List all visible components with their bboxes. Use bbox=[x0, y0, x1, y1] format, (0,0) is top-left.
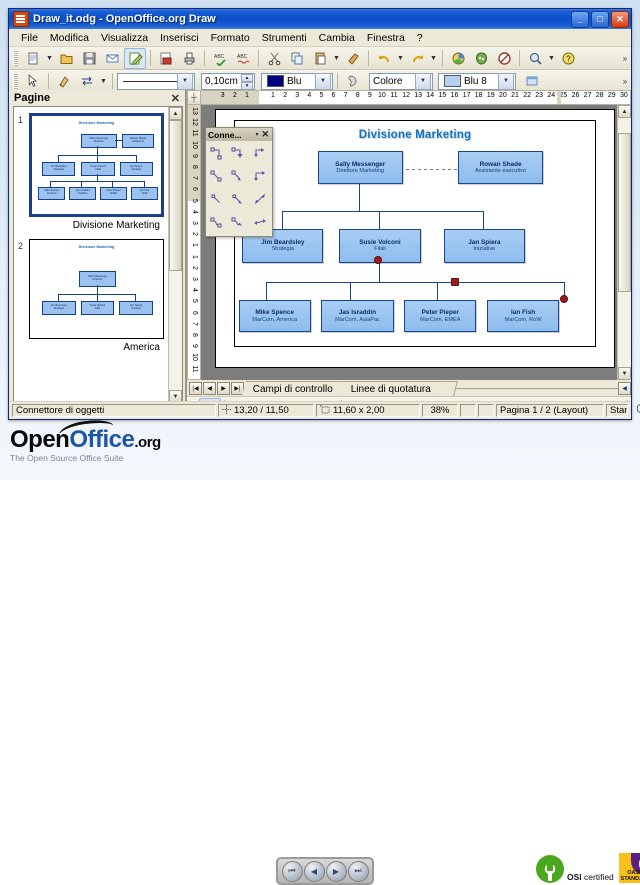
menu-item-modifica[interactable]: Modifica bbox=[44, 31, 95, 45]
menu-item-cambia[interactable]: Cambia bbox=[313, 31, 361, 45]
oasis-line2: STANDARD bbox=[619, 877, 640, 883]
cut-icon[interactable] bbox=[263, 48, 285, 69]
connector-handle-start[interactable] bbox=[374, 256, 382, 264]
ruler-tick-label: 1 bbox=[271, 92, 275, 99]
logo-org: .org bbox=[134, 434, 160, 451]
ruler-tick-label: 12 bbox=[402, 92, 410, 99]
position-icon bbox=[222, 405, 231, 417]
line-color-swatch bbox=[267, 75, 284, 87]
first-track-icon[interactable]: ⏮ bbox=[282, 861, 303, 882]
close-button[interactable]: ✕ bbox=[611, 11, 629, 28]
pages-panel-header: Pagine ✕ bbox=[9, 90, 185, 106]
ruler-tick-label: 3 bbox=[191, 221, 198, 225]
gallery-icon[interactable] bbox=[470, 48, 492, 69]
ruler-tick-label: 3 bbox=[295, 92, 299, 99]
ruler-tick-label: 11 bbox=[191, 365, 198, 372]
line-color-select[interactable]: Blu ▼ bbox=[261, 73, 333, 90]
ruler-tick-label: 29 bbox=[608, 92, 616, 99]
connector-sally-rowan[interactable] bbox=[406, 169, 460, 170]
connector-arrows-icon[interactable] bbox=[250, 142, 271, 165]
scroll-up-icon[interactable]: ▲ bbox=[618, 105, 631, 118]
page-label-2: America bbox=[29, 339, 164, 359]
ruler-tick-label: 17 bbox=[463, 92, 471, 99]
ruler-tick-label: 15 bbox=[438, 92, 446, 99]
new-document-icon[interactable] bbox=[22, 48, 44, 69]
org-node-role: MarCom, America bbox=[252, 317, 297, 323]
connector-button-grid bbox=[206, 141, 272, 235]
org-node-name: Rowan Shade bbox=[480, 161, 522, 168]
connector-drop-jim[interactable] bbox=[282, 211, 283, 229]
ruler-tick-label: 22 bbox=[523, 92, 531, 99]
connector-line-icon[interactable] bbox=[207, 165, 228, 188]
desktop-backdrop: Draw_it.odg - OpenOffice.org Draw _ □ ✕ … bbox=[0, 0, 640, 480]
svg-text:?: ? bbox=[566, 54, 571, 63]
connector-drop-susie[interactable] bbox=[379, 211, 380, 229]
org-node-peter[interactable]: Peter Pieper MarCom, EMEA bbox=[404, 300, 476, 332]
spellcheck-icon[interactable]: ABC bbox=[209, 48, 231, 69]
ruler-tick-label: 2 bbox=[283, 92, 287, 99]
menu-item-formato[interactable]: Formato bbox=[205, 31, 256, 45]
open-document-icon[interactable] bbox=[55, 48, 77, 69]
menu-item-help[interactable]: ? bbox=[411, 31, 429, 45]
org-node-role: Strategia bbox=[272, 246, 294, 252]
chevron-down-icon[interactable]: ▼ bbox=[177, 73, 193, 90]
undo-icon[interactable] bbox=[373, 48, 395, 69]
connector-straight-icon[interactable] bbox=[207, 188, 228, 211]
status-position-value: 13,20 / 11,50 bbox=[234, 405, 289, 416]
org-node-ian[interactable]: Ian Fish MarCom, RoW bbox=[487, 300, 559, 332]
ruler-tick-label: 2 bbox=[191, 232, 198, 236]
connector-drop-peter[interactable] bbox=[437, 282, 438, 300]
seagull-icon bbox=[58, 419, 118, 433]
org-node-name: Jas Israddin bbox=[339, 309, 376, 316]
ruler-tick-label: 2 bbox=[233, 92, 237, 99]
connector-curved-arrow-icon[interactable] bbox=[228, 211, 249, 234]
shadow-icon[interactable] bbox=[342, 71, 364, 92]
page-label-1: Divisione Marketing bbox=[29, 217, 164, 237]
export-pdf-icon[interactable] bbox=[155, 48, 177, 69]
org-node-sally[interactable]: Sally Messenger Direttore Marketing bbox=[318, 151, 403, 183]
ruler-tick-label: 26 bbox=[572, 92, 580, 99]
layer-tab-empty[interactable] bbox=[438, 381, 458, 396]
thumb-title: Divisione Marketing bbox=[30, 245, 163, 249]
page-sheet[interactable]: Divisione Marketing bbox=[215, 109, 615, 368]
menu-item-finestra[interactable]: Finestra bbox=[361, 31, 411, 45]
status-page-info: Pagina 1 / 2 (Layout) bbox=[496, 404, 604, 417]
menu-item-strumenti[interactable]: Strumenti bbox=[256, 31, 313, 45]
minimize-button[interactable]: _ bbox=[571, 11, 589, 28]
line-style-icon[interactable] bbox=[53, 71, 75, 92]
ruler-corner-button[interactable]: ┼ bbox=[187, 90, 201, 105]
ruler-tick-label: 10 bbox=[191, 353, 198, 361]
pages-panel-title: Pagine bbox=[14, 92, 169, 104]
openoffice-logo: OpenOffice.org The Open Source Office Su… bbox=[10, 428, 161, 463]
toolbar-grip[interactable] bbox=[13, 73, 18, 89]
org-node-name: Jan Spiera bbox=[468, 239, 500, 246]
size-icon bbox=[320, 405, 330, 417]
ruler-tick-label: 7 bbox=[191, 322, 198, 326]
status-size-value: 11,60 x 2,00 bbox=[333, 405, 385, 416]
ruler-tick-label: 1 bbox=[191, 243, 198, 247]
ruler-tick-label: 2 bbox=[191, 266, 198, 270]
scroll-up-icon[interactable]: ▲ bbox=[169, 107, 182, 120]
layer-tab-dimension[interactable]: Linee di quotatura bbox=[340, 381, 443, 396]
close-icon[interactable]: ✕ bbox=[169, 92, 182, 105]
org-node-role: MarCom, EMEA bbox=[420, 317, 460, 323]
ruler-tick-label: 8 bbox=[191, 165, 198, 169]
media-player-controls: ⏮ ◀ ▶ ⏭ bbox=[276, 857, 374, 885]
connector-bus-level2[interactable] bbox=[266, 282, 565, 283]
list-item[interactable]: 1 Divisione Marketing Sally MessengerDir… bbox=[18, 113, 164, 237]
menu-bar: File Modifica Visualizza Inserisci Forma… bbox=[9, 29, 631, 47]
chart-icon[interactable] bbox=[447, 48, 469, 69]
toolbar-overflow-button[interactable]: » bbox=[619, 72, 631, 91]
copy-icon[interactable] bbox=[286, 48, 308, 69]
status-size: 11,60 x 2,00 bbox=[316, 404, 420, 417]
nav-prev-button[interactable]: ◀ bbox=[203, 382, 216, 395]
scrollbar-thumb[interactable] bbox=[169, 120, 182, 271]
status-selection-info: Connettore di oggetti bbox=[12, 404, 216, 417]
fill-color-select[interactable]: Blu 8 ▼ bbox=[438, 73, 516, 90]
certification-logos: OSI certified OASIS STANDARD bbox=[536, 853, 640, 883]
ruler-tick-label: 1 bbox=[191, 255, 198, 259]
autospellcheck-icon[interactable]: ABC bbox=[232, 48, 254, 69]
connector-handle-end[interactable] bbox=[560, 295, 568, 303]
standard-toolbar: ▼ABCABC▼▼▼▼?» bbox=[9, 47, 631, 70]
connector-straight-arrow-icon[interactable] bbox=[228, 188, 249, 211]
arrow-style-icon[interactable] bbox=[76, 71, 98, 92]
connector-line-arrow-icon[interactable] bbox=[228, 165, 249, 188]
layer-tab-controls[interactable]: Campi di controllo bbox=[242, 381, 345, 396]
connector-toolbar-title: Conne... bbox=[208, 130, 253, 140]
logo-tagline: The Open Source Office Suite bbox=[10, 453, 161, 463]
ruler-tick-label: 5 bbox=[191, 199, 198, 203]
clone-formatting-icon[interactable] bbox=[342, 48, 364, 69]
connector-floating-toolbar[interactable]: Conne... ▾ ✕ bbox=[205, 127, 273, 237]
chart-title: Divisione Marketing bbox=[235, 129, 595, 141]
list-item[interactable]: 2 Divisione Marketing Sally MessengerDir… bbox=[18, 239, 164, 359]
connector-drop-jas[interactable] bbox=[350, 282, 351, 300]
chevron-down-icon[interactable]: ▼ bbox=[429, 49, 438, 68]
status-style: Standard bbox=[606, 404, 628, 417]
connector-drop-mike[interactable] bbox=[266, 282, 267, 300]
toolbar-separator bbox=[258, 50, 259, 66]
ruler-tick-label: 11 bbox=[390, 92, 397, 99]
work-area: Pagine ✕ 1 Divisione Marketing bbox=[9, 90, 631, 419]
org-node-name: Mike Spence bbox=[255, 309, 294, 316]
ruler-tick-label: 13 bbox=[414, 92, 422, 99]
connector-ends-arrow-icon[interactable] bbox=[228, 142, 249, 165]
status-signature bbox=[478, 404, 494, 417]
play-icon[interactable]: ▶ bbox=[326, 861, 347, 882]
osi-rest: certified bbox=[582, 872, 614, 882]
ruler-margin-area bbox=[557, 91, 561, 104]
ruler-tick-label: 18 bbox=[475, 92, 483, 99]
oasis-standard-logo: OASIS STANDARD bbox=[619, 853, 640, 883]
ruler-tick-label: 12 bbox=[191, 118, 198, 126]
chevron-down-icon[interactable]: ▼ bbox=[415, 73, 431, 90]
application-window: Draw_it.odg - OpenOffice.org Draw _ □ ✕ … bbox=[8, 8, 632, 420]
maximize-button[interactable]: □ bbox=[591, 11, 609, 28]
branding-strip: OpenOffice.org The Open Source Office Su… bbox=[0, 420, 640, 480]
org-node-name: Peter Pieper bbox=[422, 309, 459, 316]
ruler-tick-label: 1 bbox=[245, 92, 249, 99]
horizontal-ruler[interactable]: 3211234567891011121314151617181920212223… bbox=[201, 90, 631, 105]
chevron-down-icon[interactable]: ▾ bbox=[253, 131, 260, 138]
org-node-name: Ian Fish bbox=[511, 309, 535, 316]
ruler-tick-label: 5 bbox=[319, 92, 323, 99]
page-thumbnail-1[interactable]: Divisione Marketing Sally MessengerDiret… bbox=[29, 113, 164, 217]
status-zoom[interactable]: 38% bbox=[422, 404, 458, 417]
title-bar: Draw_it.odg - OpenOffice.org Draw _ □ ✕ bbox=[9, 9, 631, 29]
chevron-down-icon[interactable]: ▼ bbox=[396, 49, 405, 68]
org-node-rowan[interactable]: Rowan Shade Assistente esecutivo bbox=[458, 151, 543, 183]
chevron-down-icon[interactable]: ▼ bbox=[315, 73, 331, 90]
status-modified bbox=[460, 404, 476, 417]
osi-certified-label: OSI certified bbox=[567, 872, 614, 883]
ruler-tick-label: 9 bbox=[191, 344, 198, 348]
line-width-stepper[interactable]: ▲▼ bbox=[241, 74, 253, 89]
page-thumbnail-list: 1 Divisione Marketing Sally MessengerDir… bbox=[14, 107, 168, 403]
org-node-role: Filali bbox=[374, 246, 386, 252]
connector-line-arrows-icon[interactable] bbox=[250, 165, 271, 188]
toolbar-separator bbox=[150, 50, 151, 66]
page-thumbnail-2[interactable]: Divisione Marketing Sally MessengerDiret… bbox=[29, 239, 164, 339]
page-number: 1 bbox=[18, 113, 29, 237]
svg-text:ABC: ABC bbox=[214, 54, 225, 60]
chevron-down-icon[interactable]: ▼ bbox=[332, 49, 341, 68]
nav-first-button[interactable]: |◀ bbox=[189, 382, 202, 395]
chevron-down-icon[interactable]: ▼ bbox=[99, 72, 108, 91]
pages-panel: Pagine ✕ 1 Divisione Marketing bbox=[9, 90, 187, 419]
ruler-tick-label: 14 bbox=[426, 92, 434, 99]
fill-color-value: Blu 8 bbox=[464, 76, 498, 87]
connector-stem-sally[interactable] bbox=[359, 182, 360, 211]
ruler-tick-label: 7 bbox=[344, 92, 348, 99]
scrollbar-thumb[interactable] bbox=[618, 133, 631, 292]
layer-tab-bar: |◀ ◀ ▶ ▶| Campi di controllo Linee di qu… bbox=[187, 380, 631, 396]
ruler-tick-label: 27 bbox=[584, 92, 592, 99]
org-node-name: Susie Volconi bbox=[359, 239, 400, 246]
scrollbar-track[interactable] bbox=[169, 120, 182, 390]
next-track-icon[interactable]: ⏭ bbox=[348, 861, 369, 882]
connector-curved-arrows-icon[interactable] bbox=[250, 211, 271, 234]
save-document-icon[interactable] bbox=[78, 48, 100, 69]
toolbar-separator bbox=[204, 50, 205, 66]
tabbar-spacer bbox=[456, 387, 618, 389]
line-color-value: Blu bbox=[287, 76, 315, 87]
paste-icon[interactable] bbox=[309, 48, 331, 69]
scrollbar-track[interactable] bbox=[618, 118, 631, 367]
ruler-tick-label: 6 bbox=[191, 311, 198, 315]
chevron-down-icon[interactable]: ▼ bbox=[45, 49, 54, 68]
pages-scrollbar[interactable]: ▲ ▼ bbox=[168, 107, 182, 403]
chevron-down-icon[interactable]: ▼ bbox=[498, 73, 514, 90]
ruler-tick-label: 4 bbox=[191, 288, 198, 292]
ruler-tick-label: 3 bbox=[221, 92, 225, 99]
toolbar-separator bbox=[368, 50, 369, 66]
canvas-vscrollbar[interactable]: ▲ ▼ bbox=[617, 105, 631, 380]
layer-tab-label: Campi di controllo bbox=[253, 383, 333, 394]
ruler-tick-label: 19 bbox=[487, 92, 495, 99]
org-chart-frame[interactable]: Divisione Marketing bbox=[234, 120, 596, 347]
redo-icon[interactable] bbox=[406, 48, 428, 69]
previous-track-icon[interactable]: ◀ bbox=[304, 861, 325, 882]
close-icon[interactable]: ✕ bbox=[260, 129, 270, 140]
svg-text:ABC: ABC bbox=[237, 54, 248, 60]
window-controls: _ □ ✕ bbox=[571, 11, 629, 28]
ruler-tick-label: 13 bbox=[191, 107, 198, 115]
connector-toolbar-header[interactable]: Conne... ▾ ✕ bbox=[206, 128, 272, 141]
connector-drop-jan[interactable] bbox=[483, 211, 484, 229]
select-pointer-icon[interactable] bbox=[22, 71, 44, 92]
org-node-role: MarCom, AsiaPac bbox=[335, 317, 380, 323]
ruler-tick-label: 5 bbox=[191, 299, 198, 303]
connector-handle-mid[interactable] bbox=[451, 278, 459, 286]
toolbar-separator bbox=[442, 50, 443, 66]
fill-color-swatch bbox=[444, 75, 461, 87]
menu-item-visualizza[interactable]: Visualizza bbox=[95, 31, 154, 45]
zoom-icon[interactable] bbox=[524, 48, 546, 69]
ruler-tick-label: 10 bbox=[191, 141, 198, 149]
org-node-role: Iniziative bbox=[474, 246, 496, 252]
layer-tab-label: Linee di quotatura bbox=[351, 383, 431, 394]
toolbar-separator bbox=[519, 50, 520, 66]
chevron-down-icon[interactable]: ▼ bbox=[547, 49, 556, 68]
ruler-tick-label: 9 bbox=[191, 154, 198, 158]
org-node-name: Jim Beardsley bbox=[261, 239, 304, 246]
connector-straight-arrows-icon[interactable] bbox=[250, 188, 271, 211]
area-style-icon[interactable] bbox=[521, 71, 543, 92]
line-width-value: 0,10cm bbox=[205, 76, 241, 87]
ruler-tick-label: 24 bbox=[547, 92, 555, 99]
ruler-tick-label: 7 bbox=[191, 176, 198, 180]
ruler-margin-area bbox=[201, 91, 259, 104]
toolbar-overflow-button[interactable]: » bbox=[619, 49, 631, 68]
org-node-role: MarCom, RoW bbox=[505, 317, 542, 323]
ruler-tick-label: 8 bbox=[191, 333, 198, 337]
help-icon[interactable]: ? bbox=[557, 48, 579, 69]
pages-panel-body: 1 Divisione Marketing Sally MessengerDir… bbox=[13, 106, 183, 404]
ruler-tick-label: 28 bbox=[596, 92, 604, 99]
ruler-tick-label: 9 bbox=[368, 92, 372, 99]
osi-keyhole-icon bbox=[536, 855, 564, 883]
ruler-tick-label: 3 bbox=[191, 277, 198, 281]
thumb-title: Divisione Marketing bbox=[32, 121, 161, 125]
ruler-tick-label: 21 bbox=[511, 92, 519, 99]
fill-type-value: Colore bbox=[373, 76, 415, 87]
ruler-tick-label: 8 bbox=[356, 92, 360, 99]
ruler-tick-label: 11 bbox=[191, 130, 198, 137]
org-node-name: Sally Messenger bbox=[335, 161, 385, 168]
ruler-tick-label: 4 bbox=[307, 92, 311, 99]
fill-type-select[interactable]: Colore ▼ bbox=[369, 73, 433, 90]
org-node-mike[interactable]: Mike Spence MarCom, America bbox=[239, 300, 311, 332]
menu-item-file[interactable]: File bbox=[15, 31, 44, 45]
scroll-down-icon[interactable]: ▼ bbox=[618, 367, 631, 380]
status-position: 13,20 / 11,50 bbox=[218, 404, 314, 417]
ruler-tick-label: 6 bbox=[332, 92, 336, 99]
line-width-input[interactable]: 0,10cm ▲▼ bbox=[201, 73, 255, 90]
org-node-jas[interactable]: Jas Israddin MarCom, AsiaPac bbox=[321, 300, 393, 332]
menu-item-inserisci[interactable]: Inserisci bbox=[154, 31, 205, 45]
connector-curved-icon[interactable] bbox=[207, 211, 228, 234]
ruler-tick-label: 30 bbox=[620, 92, 628, 99]
ruler-tick-label: 16 bbox=[451, 92, 459, 99]
edit-file-icon[interactable] bbox=[124, 48, 146, 69]
org-node-role: Assistente esecutivo bbox=[475, 168, 526, 174]
ruler-tick-label: 6 bbox=[191, 187, 198, 191]
toolbar-grip[interactable] bbox=[13, 50, 18, 66]
ruler-row: ┼ 32112345678910111213141516171819202122… bbox=[187, 90, 631, 105]
ruler-tick-label: 20 bbox=[499, 92, 507, 99]
display-grid-icon[interactable] bbox=[493, 48, 515, 69]
window-title: Draw_it.odg - OpenOffice.org Draw bbox=[33, 13, 571, 25]
status-bar: Connettore di oggetti 13,20 / 11,50 11,6… bbox=[9, 401, 631, 419]
connector-bus-level1[interactable] bbox=[282, 211, 484, 212]
ruler-tick-label: 23 bbox=[535, 92, 543, 99]
connector-icon[interactable] bbox=[207, 142, 228, 165]
page-number: 2 bbox=[18, 239, 29, 359]
org-node-role: Direttore Marketing bbox=[336, 168, 384, 174]
ruler-tick-label: 10 bbox=[378, 92, 386, 99]
org-node-jan[interactable]: Jan Spiera Iniziative bbox=[444, 229, 525, 263]
3d-objects-icon[interactable] bbox=[631, 398, 640, 419]
draw-document-icon bbox=[13, 11, 29, 27]
line-style-select[interactable]: ▼ bbox=[117, 73, 195, 90]
send-email-icon[interactable] bbox=[101, 48, 123, 69]
vertical-ruler[interactable]: 131211109876543211234567891011 bbox=[187, 105, 201, 380]
tab-scroll-left-button[interactable]: ◀ bbox=[618, 382, 631, 395]
nav-next-button[interactable]: ▶ bbox=[217, 382, 230, 395]
ruler-tick-label: 4 bbox=[191, 210, 198, 214]
osi-bold: OSI bbox=[567, 872, 582, 882]
print-icon[interactable] bbox=[178, 48, 200, 69]
